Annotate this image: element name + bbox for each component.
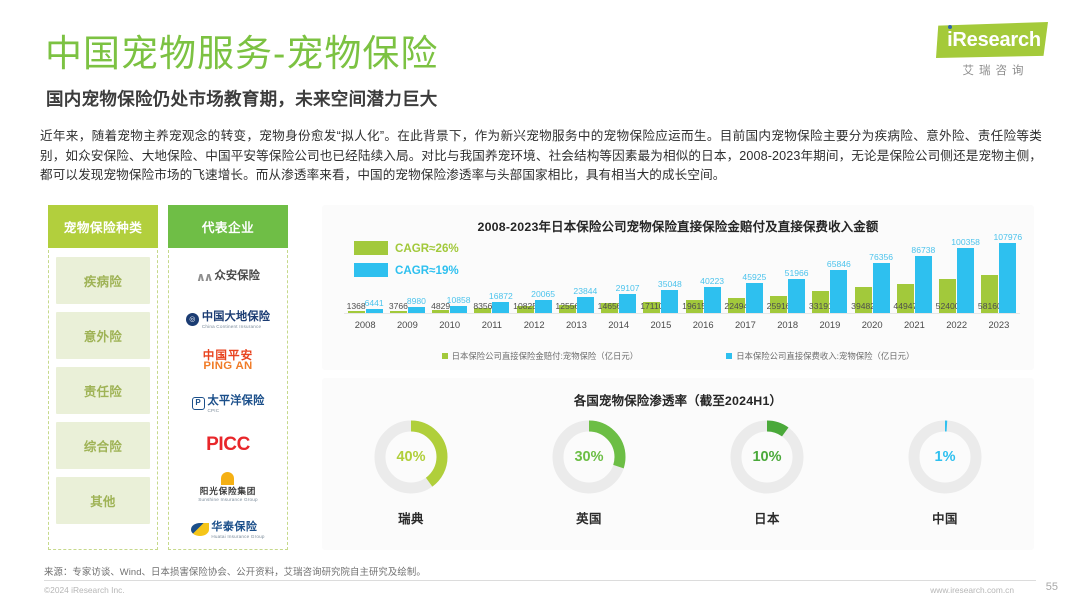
bar-claims: 1368 (348, 311, 365, 313)
page-number: 55 (1046, 581, 1058, 593)
bar-value-label: 35048 (658, 279, 682, 289)
bar-group: 1255623844 (555, 237, 597, 313)
logo-wordmark: iResearch (942, 27, 1046, 53)
bar-value-label: 14656 (598, 301, 622, 311)
x-axis-tick-label: 2011 (471, 315, 513, 335)
website-link[interactable]: www.iresearch.com.cn (930, 585, 1014, 595)
company-name: 阳光保险集团 (200, 487, 256, 496)
bar-value-label: 44947 (893, 301, 917, 311)
logo-chinese-name: 艾瑞咨询 (938, 62, 1048, 78)
legend-item-claims: 日本保险公司直接保险金赔付:宠物保险（亿日元） (442, 350, 639, 362)
company-name-en: CPIC (208, 409, 265, 414)
copyright-note: ©2024 iResearch Inc. (44, 585, 125, 595)
bar-value-label: 76356 (869, 252, 893, 262)
company-logo-cell: PICC (173, 424, 283, 466)
x-axis-tick-label: 2022 (936, 315, 978, 335)
donut-country-label: 英国 (576, 509, 602, 527)
companies-column: 代表企业 ∧∧众安保险◎中国大地保险China Continent Insura… (168, 205, 288, 550)
bar-group: 1961540223 (682, 237, 724, 313)
bar-premium: 6441 (366, 309, 383, 313)
sunshine-sun-icon (221, 472, 234, 485)
bar-plot-baseline (344, 313, 1020, 314)
bar-group: 835616872 (471, 237, 513, 313)
insurance-type-cell: 综合险 (56, 422, 150, 469)
bar-claims: 44947 (897, 284, 914, 313)
x-axis-tick-label: 2012 (513, 315, 555, 335)
huatai-swoosh-icon (191, 523, 209, 536)
bar-group: 1465629107 (598, 237, 640, 313)
bar-premium: 16872 (492, 302, 509, 313)
bar-chart-card: 2008-2023年日本保险公司宠物保险直接保险金赔付及直接保费收入金额 CAG… (322, 205, 1034, 370)
legend-green-label: 日本保险公司直接保险金赔付:宠物保险（亿日元） (452, 350, 639, 362)
company-name: 众安保险 (214, 271, 260, 282)
insurance-type-cell: 意外险 (56, 312, 150, 359)
iresearch-logo: iResearch 艾瑞咨询 (928, 22, 1052, 82)
bar-premium: 35048 (661, 290, 678, 313)
insurance-types-table: 宠物保险种类 疾病险意外险责任险综合险其他 代表企业 ∧∧众安保险◎中国大地保险… (48, 205, 288, 550)
x-axis-tick-label: 2016 (682, 315, 724, 335)
companies-column-header: 代表企业 (168, 205, 288, 248)
bar-premium: 8980 (408, 307, 425, 313)
bar-plot-area: 1368644137668980482910858835616872108252… (344, 237, 1020, 335)
insurance-type-cell: 疾病险 (56, 257, 150, 304)
bar-value-label: 39482 (851, 301, 875, 311)
companies-column-body: ∧∧众安保险◎中国大地保险China Continent Insurance中国… (168, 250, 288, 550)
bar-claims: 22494 (728, 298, 745, 313)
bar-value-label: 58160 (978, 301, 1002, 311)
bar-premium: 86738 (915, 256, 932, 313)
bar-premium: 10858 (450, 306, 467, 313)
types-list: 疾病险意外险责任险综合险其他 (49, 250, 157, 524)
bar-claims: 58160 (981, 275, 998, 313)
bar-claims: 19615 (686, 300, 703, 313)
x-axis-tick-label: 2013 (555, 315, 597, 335)
types-column-body: 疾病险意外险责任险综合险其他 (48, 250, 158, 550)
x-axis-tick-label: 2020 (851, 315, 893, 335)
x-axis-tick-label: 2010 (429, 315, 471, 335)
bar-claims: 8356 (474, 308, 491, 313)
company-logo-cell: 中国平安PING AN (173, 340, 283, 382)
x-axis-tick-label: 2008 (344, 315, 386, 335)
bar-premium: 45925 (746, 283, 763, 313)
bar-group: 37668980 (386, 237, 428, 313)
x-axis-tick-label: 2018 (767, 315, 809, 335)
types-column: 宠物保险种类 疾病险意外险责任险综合险其他 (48, 205, 158, 550)
bar-value-label: 25916 (767, 301, 791, 311)
bar-group: 3948276356 (851, 237, 893, 313)
bar-chart-legend: 日本保险公司直接保险金赔付:宠物保险（亿日元） 日本保险公司直接保费收入:宠物保… (322, 350, 1034, 362)
company-name: PICC (206, 434, 250, 456)
bar-premium: 51966 (788, 279, 805, 313)
company-name: 太平洋保险 (208, 395, 265, 407)
company-logo-cell: 阳光保险集团Sunshine Insurance Group (173, 466, 283, 508)
bar-premium: 40223 (704, 287, 721, 313)
company-name-en: PING AN (203, 361, 252, 372)
bar-groups: 1368644137668980482910858835616872108252… (344, 237, 1020, 313)
company-name: 中国大地保险 (202, 311, 270, 323)
logo-dot-icon (948, 25, 952, 29)
donut-chart-group: 40%瑞典30%英国10%日本1%中国 (322, 414, 1034, 527)
bar-group: 3319165846 (809, 237, 851, 313)
body-paragraph: 近年来，随着宠物主养宠观念的转变，宠物身份愈发“拟人化”。在此背景下，作为新兴宠… (40, 127, 1042, 186)
cpic-p-icon: P (192, 397, 205, 410)
donut-chart-1: 30%英国 (500, 414, 678, 527)
x-axis-tick-label: 2014 (598, 315, 640, 335)
donut-value-label: 10% (726, 414, 808, 500)
bar-value-label: 10858 (447, 295, 471, 305)
x-axis-tick-label: 2015 (640, 315, 682, 335)
bar-chart-title: 2008-2023年日本保险公司宠物保险直接保险金赔付及直接保费收入金额 (322, 205, 1034, 235)
legend-green-swatch-icon (442, 353, 448, 359)
company-logo-cell: P太平洋保险CPIC (173, 382, 283, 424)
bar-premium: 100358 (957, 248, 974, 313)
bar-value-label: 6441 (365, 298, 384, 308)
company-name-en: China Continent Insurance (202, 325, 270, 330)
bar-group: 2249445925 (724, 237, 766, 313)
bar-group: 13686441 (344, 237, 386, 313)
company-name-en: Huatai Insurance Group (211, 535, 264, 540)
donut-value-label: 30% (548, 414, 630, 500)
x-axis-ticks: 2008200920102011201220132014201520162017… (344, 315, 1020, 335)
bar-group: 4494786738 (893, 237, 935, 313)
bar-claims: 33191 (812, 291, 829, 313)
bar-premium: 20065 (535, 300, 552, 313)
company-logo-cell: ∧∧众安保险 (173, 256, 283, 298)
zhongan-mountain-icon: ∧∧ (196, 271, 212, 283)
bar-claims: 3766 (390, 311, 407, 313)
company-logo-cell: ◎中国大地保险China Continent Insurance (173, 298, 283, 340)
bar-value-label: 86738 (911, 245, 935, 255)
donut-chart-0: 40%瑞典 (322, 414, 500, 527)
legend-item-premium: 日本保险公司直接保费收入:宠物保险（亿日元） (726, 350, 914, 362)
bar-value-label: 23844 (573, 286, 597, 296)
footer-divider (44, 580, 1036, 581)
donut-ring: 40% (370, 414, 452, 500)
bar-value-label: 20065 (531, 289, 555, 299)
bar-premium: 23844 (577, 297, 594, 313)
bar-claims: 14656 (601, 303, 618, 313)
insurance-type-cell: 责任险 (56, 367, 150, 414)
x-axis-tick-label: 2009 (386, 315, 428, 335)
bar-value-label: 8980 (407, 296, 426, 306)
legend-blue-swatch-icon (726, 353, 732, 359)
bar-group: 1082520065 (513, 237, 555, 313)
donut-value-label: 1% (904, 414, 986, 500)
bar-value-label: 45925 (742, 272, 766, 282)
bar-claims: 52400 (939, 279, 956, 313)
bar-group: 58160107976 (978, 237, 1020, 313)
bar-claims: 17110 (643, 302, 660, 313)
bar-value-label: 51966 (785, 268, 809, 278)
companies-list: ∧∧众安保险◎中国大地保险China Continent Insurance中国… (169, 250, 287, 550)
donut-country-label: 中国 (932, 509, 958, 527)
donut-chart-3: 1%中国 (856, 414, 1034, 527)
page-subtitle: 国内宠物保险仍处市场教育期，未来空间潜力巨大 (46, 88, 438, 110)
donut-ring: 10% (726, 414, 808, 500)
page-title: 中国宠物服务-宠物保险 (45, 32, 438, 76)
bar-value-label: 8356 (473, 301, 492, 311)
bar-claims: 25916 (770, 296, 787, 313)
bar-group: 482910858 (429, 237, 471, 313)
bar-value-label: 17110 (640, 301, 663, 311)
penetration-card: 各国宠物保险渗透率（截至2024H1） 40%瑞典30%英国10%日本1%中国 (322, 378, 1034, 550)
insurance-type-cell: 其他 (56, 477, 150, 524)
penetration-chart-title: 各国宠物保险渗透率（截至2024H1） (322, 378, 1034, 409)
company-name: 华泰保险 (211, 521, 257, 533)
x-axis-tick-label: 2023 (978, 315, 1020, 335)
x-axis-tick-label: 2019 (809, 315, 851, 335)
bar-claims: 10825 (517, 306, 534, 313)
bar-group: 52400100358 (936, 237, 978, 313)
donut-country-label: 瑞典 (398, 509, 424, 527)
bar-premium: 76356 (873, 263, 890, 313)
x-axis-tick-label: 2021 (893, 315, 935, 335)
bar-value-label: 52400 (936, 301, 960, 311)
bar-value-label: 19615 (682, 301, 706, 311)
legend-blue-label: 日本保险公司直接保费收入:宠物保险（亿日元） (736, 350, 914, 362)
bar-value-label: 100358 (951, 237, 980, 247)
donut-value-label: 40% (370, 414, 452, 500)
bar-value-label: 12556 (555, 301, 579, 311)
bar-claims: 4829 (432, 310, 449, 313)
donut-ring: 30% (548, 414, 630, 500)
donut-ring: 1% (904, 414, 986, 500)
bar-claims: 12556 (559, 305, 576, 313)
company-name-en: Sunshine Insurance Group (198, 498, 257, 503)
donut-chart-2: 10%日本 (678, 414, 856, 527)
donut-country-label: 日本 (754, 509, 780, 527)
slide-page: 中国宠物服务-宠物保险 国内宠物保险仍处市场教育期，未来空间潜力巨大 iRese… (0, 0, 1080, 607)
x-axis-tick-label: 2017 (724, 315, 766, 335)
bar-group: 2591651966 (767, 237, 809, 313)
types-column-header: 宠物保险种类 (48, 205, 158, 248)
bar-value-label: 33191 (809, 301, 833, 311)
bar-value-label: 107976 (994, 232, 1023, 242)
source-note: 来源：专家访谈、Wind、日本损害保险协会、公开资料，艾瑞咨询研究院自主研究及绘… (44, 564, 426, 578)
bar-premium: 65846 (830, 270, 847, 313)
bar-value-label: 40223 (700, 276, 724, 286)
company-logo-cell: 华泰保险Huatai Insurance Group (173, 508, 283, 550)
bar-value-label: 3766 (389, 301, 408, 311)
bar-group: 1711035048 (640, 237, 682, 313)
bar-claims: 39482 (855, 287, 872, 313)
bar-premium: 107976 (999, 243, 1016, 313)
bar-value-label: 29107 (616, 283, 640, 293)
bar-value-label: 22494 (724, 301, 748, 311)
bar-premium: 29107 (619, 294, 636, 313)
bar-value-label: 1368 (347, 301, 366, 311)
bar-value-label: 10825 (513, 301, 537, 311)
dadi-globe-icon: ◎ (186, 313, 199, 326)
bar-value-label: 65846 (827, 259, 851, 269)
bar-value-label: 16872 (489, 291, 513, 301)
